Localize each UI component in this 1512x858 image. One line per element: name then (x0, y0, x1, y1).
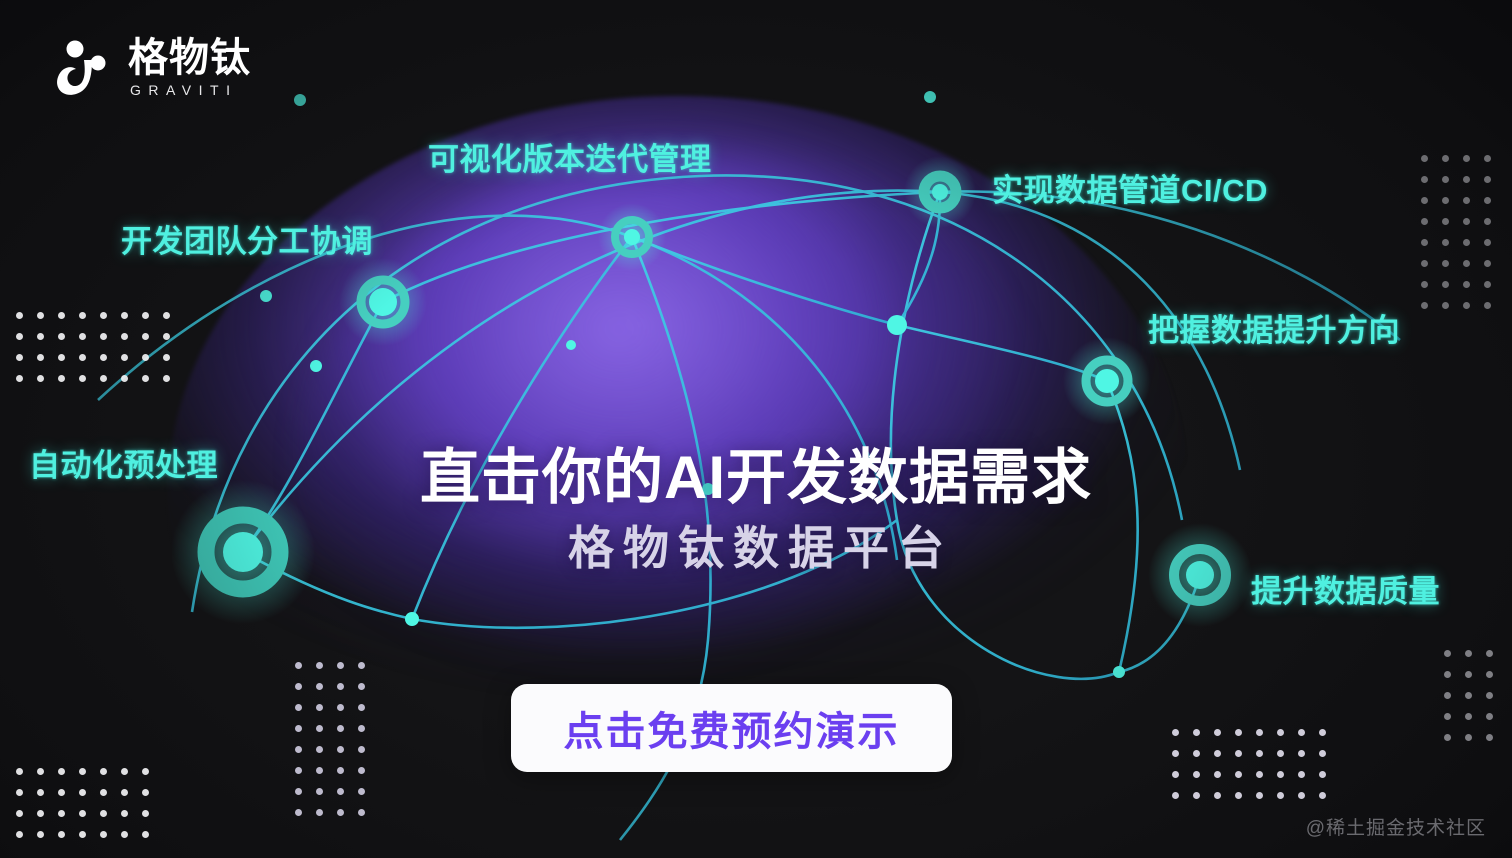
headline-block: 直击你的AI开发数据需求 格物钛数据平台 (0, 446, 1512, 573)
promo-banner: 格物钛 GRAVITI 可视化版本迭代管理 开发团队分工协调 实现数据管道CI/… (0, 0, 1512, 858)
brand-name-cn: 格物钛 (128, 37, 251, 79)
dot-grid-grid-sphere-left (295, 662, 379, 830)
page-title: 直击你的AI开发数据需求 (0, 446, 1512, 511)
feature-label-data-improvement-direction: 把握数据提升方向 (1148, 305, 1400, 350)
page-subtitle: 格物钛数据平台 (0, 523, 1512, 574)
graviti-g-mark-icon (48, 36, 114, 102)
node-upper-right (904, 156, 976, 228)
node-upper-left (339, 258, 427, 346)
dot-grid-grid-bottom-left (16, 768, 163, 852)
book-demo-button[interactable]: 点击免费预约演示 (511, 684, 952, 772)
dot-grid-grid-left-mid (16, 312, 184, 396)
book-demo-button-label: 点击免费预约演示 (564, 699, 900, 757)
brand-logo: 格物钛 GRAVITI (48, 36, 251, 102)
brand-name-en: GRAVITI (128, 80, 251, 101)
feature-label-visual-version-management: 可视化版本迭代管理 (428, 134, 712, 179)
dot-grid-grid-top-right (1421, 155, 1505, 323)
dot-grid-grid-right-low (1444, 650, 1507, 755)
brand-logo-text: 格物钛 GRAVITI (128, 37, 251, 100)
node-right (1063, 337, 1151, 425)
dot-grid-grid-bottom-right (1172, 729, 1340, 813)
feature-label-data-pipeline-cicd: 实现数据管道CI/CD (992, 165, 1268, 210)
feature-label-team-collaboration: 开发团队分工协调 (121, 216, 373, 261)
node-top-center (598, 203, 666, 271)
watermark: @稀土掘金技术社区 (1306, 813, 1486, 840)
